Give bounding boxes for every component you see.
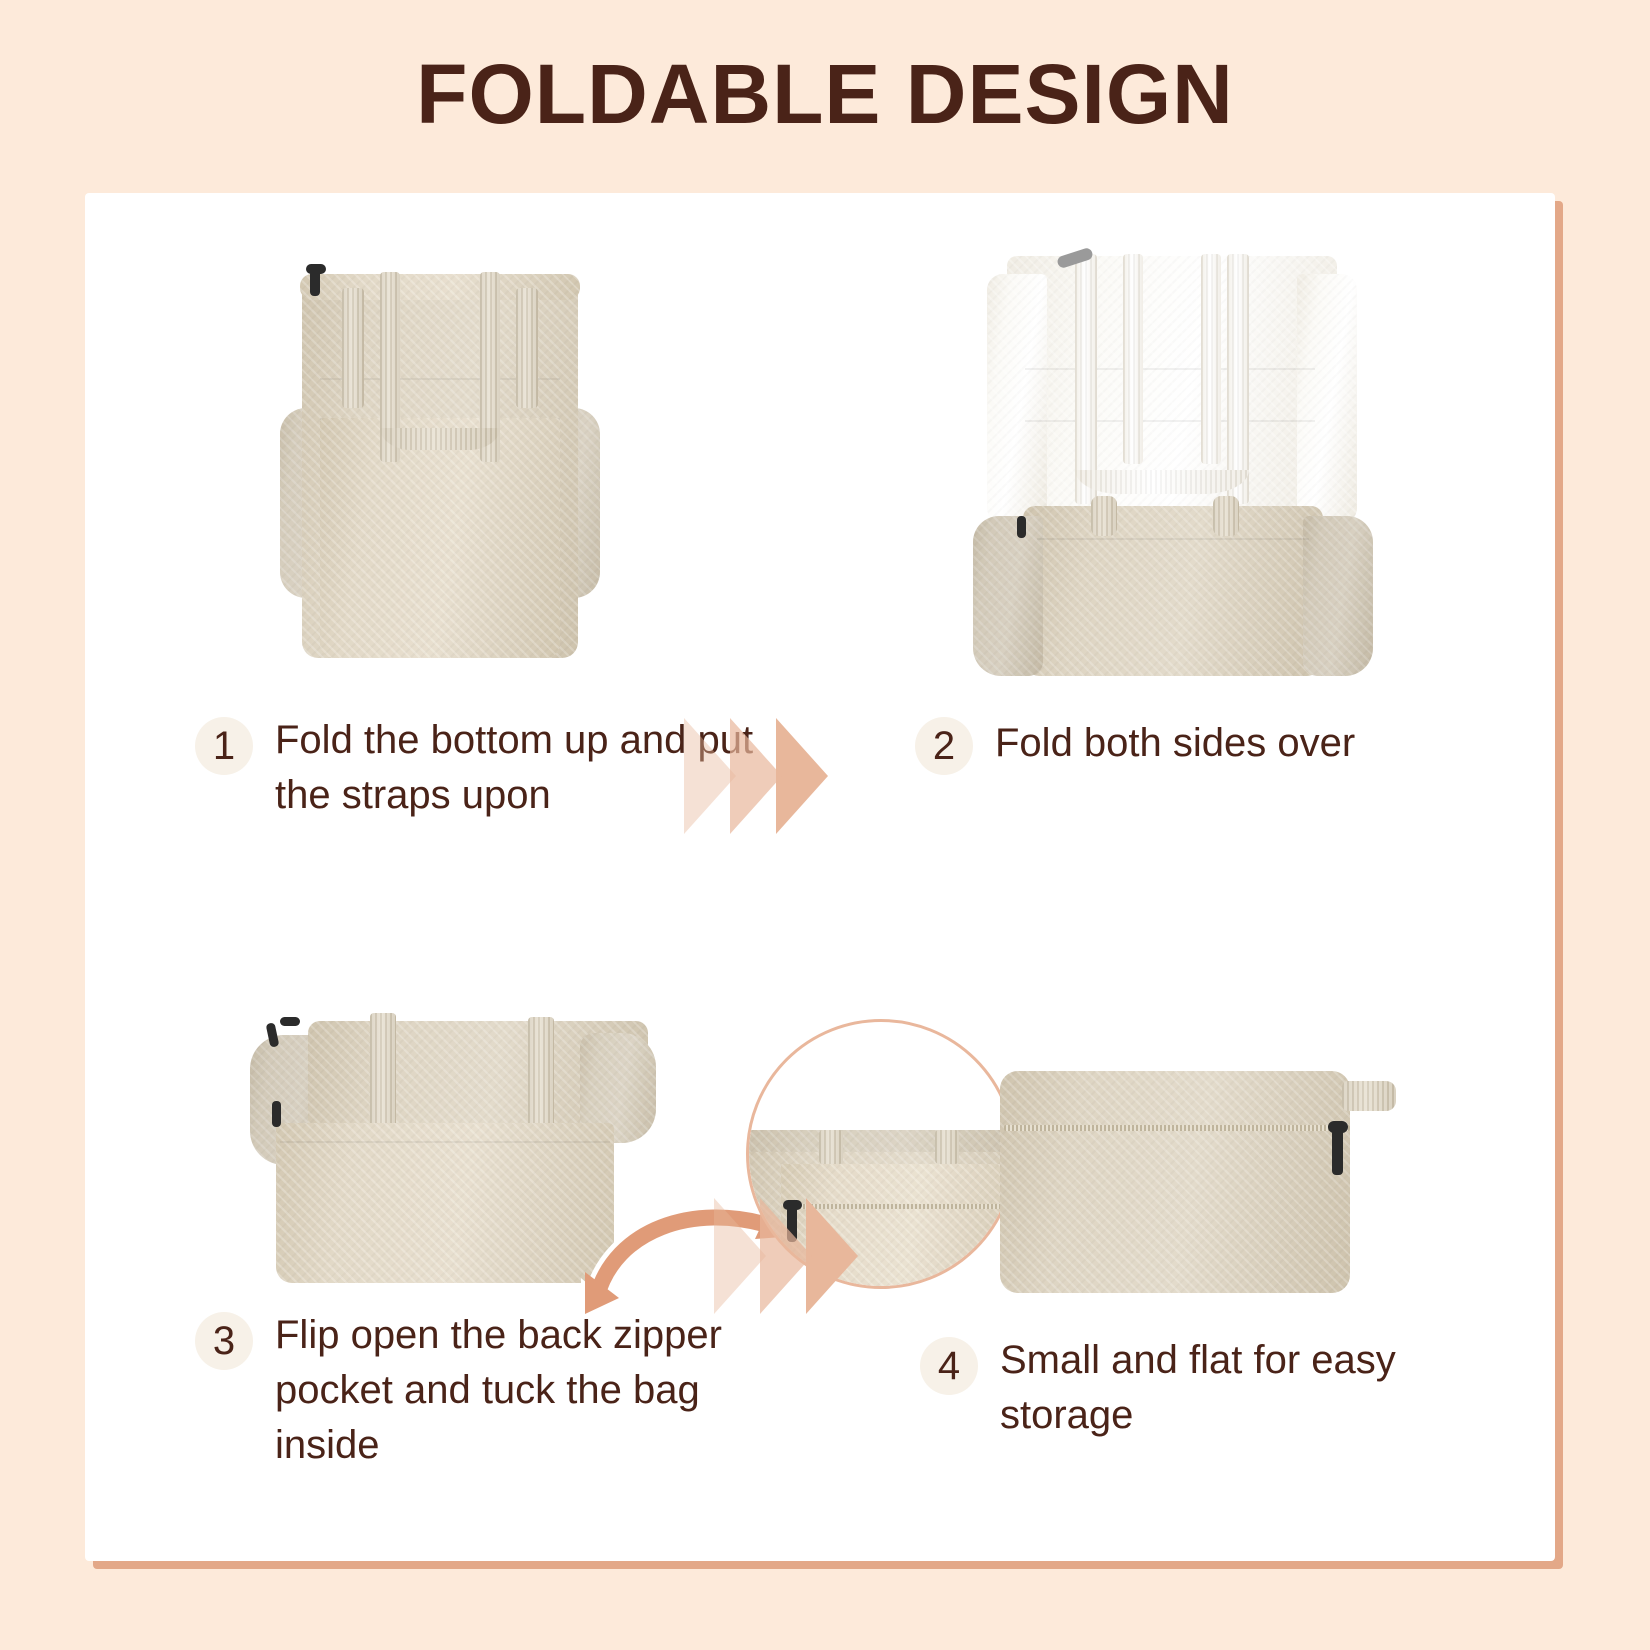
step-4-text: Small and flat for easy storage (1000, 1333, 1490, 1443)
step-4: 4 Small and flat for easy storage (920, 1033, 1490, 1443)
chevron-arrows-right-top (690, 718, 828, 834)
zipper-line (1004, 1125, 1350, 1131)
step-4-caption: 4 Small and flat for easy storage (920, 1333, 1490, 1443)
content-panel: 1 Fold the bottom up and put the straps … (85, 193, 1555, 1561)
step-1-text: Fold the bottom up and put the straps up… (275, 713, 755, 823)
chevron-icon (684, 718, 736, 834)
tote-bag-unfolded-image (280, 258, 600, 688)
step-1-badge: 1 (195, 717, 253, 775)
step-3-caption: 3 Flip open the back zipper pocket and t… (195, 1308, 815, 1474)
step-3-badge: 3 (195, 1312, 253, 1370)
tote-bag-bottom-folded-image (965, 248, 1385, 698)
step-3-text: Flip open the back zipper pocket and tuc… (275, 1308, 815, 1474)
step-2-text: Fold both sides over (995, 716, 1355, 771)
chevron-icon (730, 718, 782, 834)
step-2: 2 Fold both sides over (915, 248, 1485, 775)
chevron-icon (806, 1198, 858, 1314)
step-2-badge: 2 (915, 717, 973, 775)
step-4-badge: 4 (920, 1337, 978, 1395)
zipper-pull-icon (272, 1101, 281, 1127)
chevron-icon (714, 1198, 766, 1314)
title-bar: FOLDABLE DESIGN (0, 0, 1650, 193)
step-1-caption: 1 Fold the bottom up and put the straps … (195, 713, 755, 823)
folded-flat-pouch-image (980, 1053, 1400, 1313)
step-1: 1 Fold the bottom up and put the straps … (195, 258, 755, 823)
chevron-icon (776, 718, 828, 834)
page-title: FOLDABLE DESIGN (416, 52, 1234, 136)
chevron-arrows-right-bottom (720, 1198, 858, 1314)
step-2-caption: 2 Fold both sides over (915, 713, 1485, 775)
zipper-pull-icon (1332, 1129, 1343, 1175)
chevron-icon (760, 1198, 812, 1314)
carry-loop (1342, 1081, 1396, 1111)
